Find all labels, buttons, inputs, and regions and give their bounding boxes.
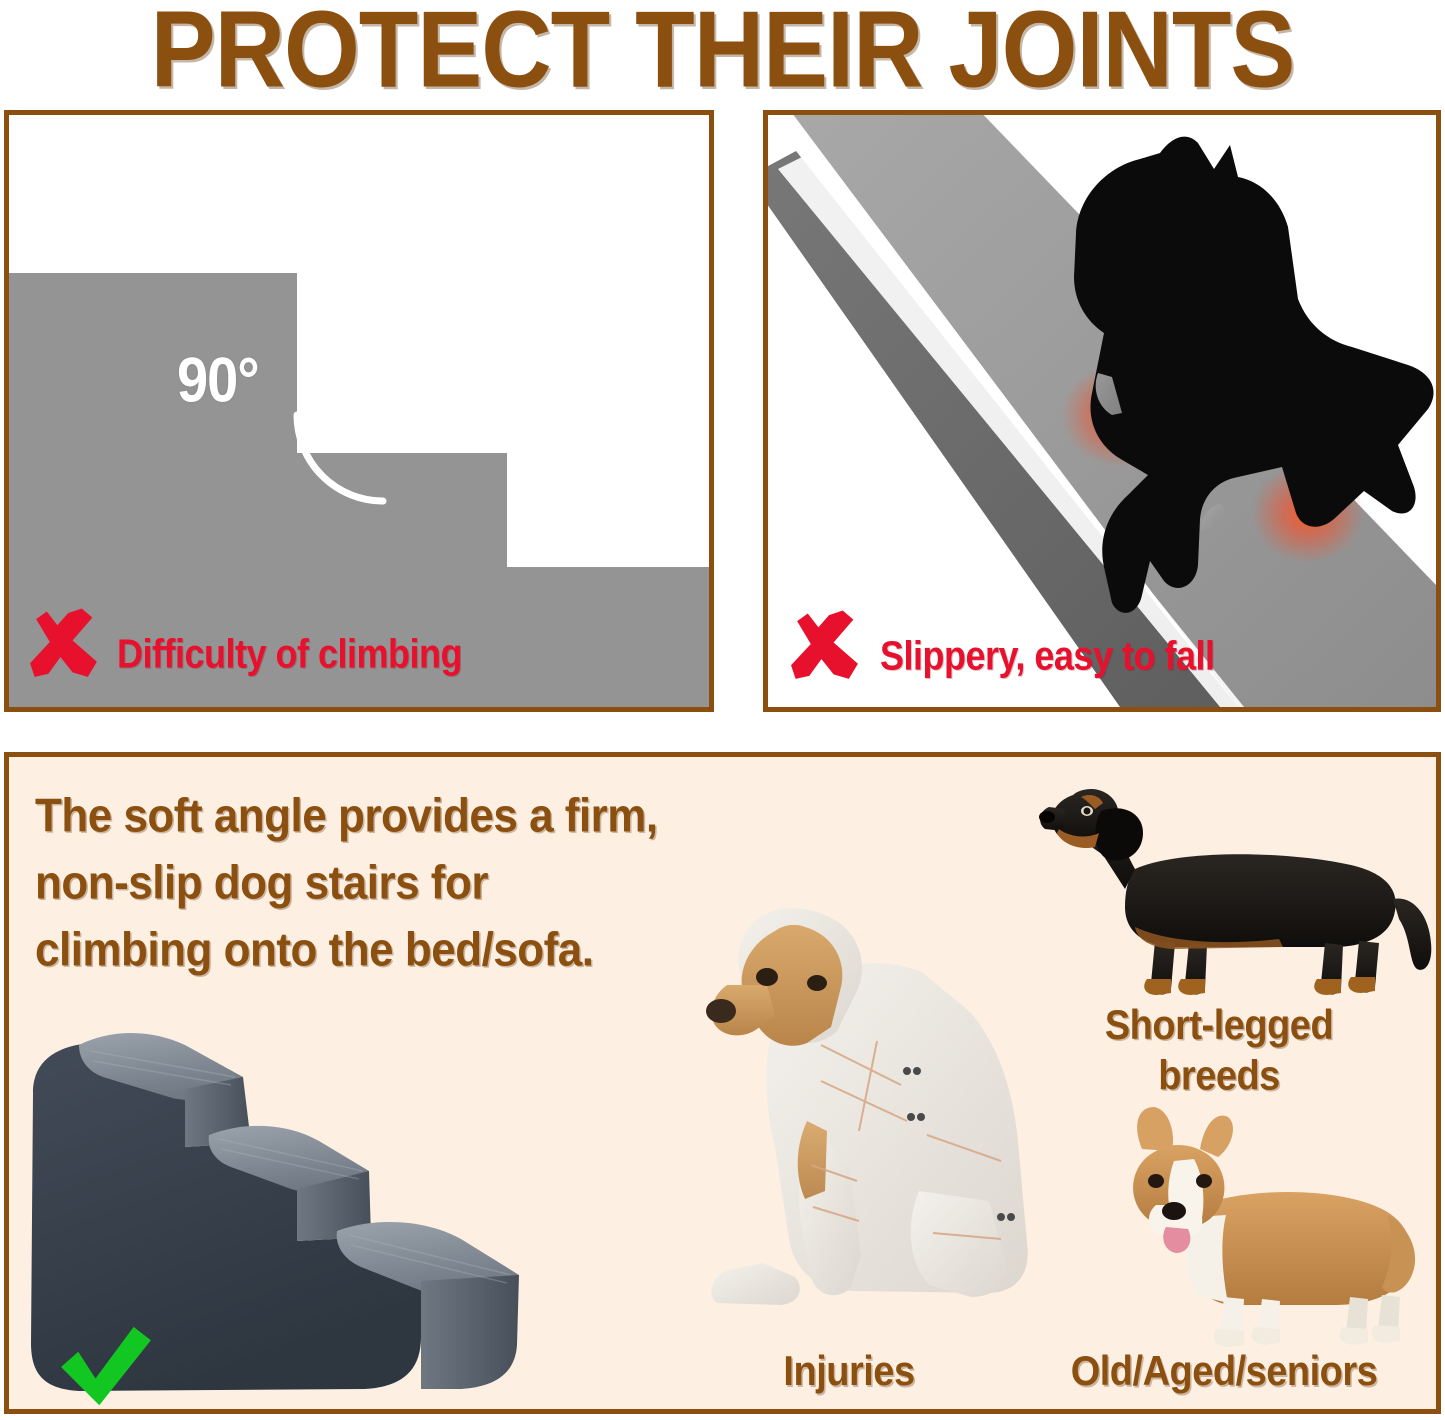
red-x-icon xyxy=(27,607,103,683)
stairs-illustration xyxy=(9,115,709,707)
angle-label: 90° xyxy=(177,343,259,416)
page-title-bar: PROTECT THEIR JOINTS xyxy=(0,0,1445,100)
slippery-ramp-illustration xyxy=(768,115,1436,707)
photo-corgi xyxy=(1104,1105,1434,1350)
panel-solution: The soft angle provides a firm, non-slip… xyxy=(4,752,1441,1414)
panel-difficulty-of-climbing: 90° Difficulty of climbing xyxy=(4,110,714,712)
promo-line-1: The soft angle provides a firm, xyxy=(35,783,735,850)
right-panel-caption: Slippery, easy to fall xyxy=(880,632,1214,679)
page-title: PROTECT THEIR JOINTS xyxy=(151,0,1295,104)
caption-short-legged-breeds: Short-legged breeds xyxy=(1054,1000,1384,1101)
caption-injuries: Injuries xyxy=(709,1347,989,1398)
promo-text: The soft angle provides a firm, non-slip… xyxy=(35,783,735,984)
panel-slippery-easy-to-fall: Slippery, easy to fall xyxy=(763,110,1441,712)
photo-dachshund xyxy=(1039,777,1439,1007)
promo-line-3: climbing onto the bed/sofa. xyxy=(35,917,735,984)
caption-old-aged-seniors: Old/Aged/seniors xyxy=(1009,1347,1439,1398)
infographic-root: PROTECT THEIR JOINTS 90° Difficulty of c… xyxy=(0,0,1445,1420)
photo-injured-dog xyxy=(671,835,1051,1355)
promo-line-2: non-slip dog stairs for xyxy=(35,850,735,917)
product-dog-stairs xyxy=(19,985,589,1405)
left-panel-caption: Difficulty of climbing xyxy=(117,630,462,677)
green-check-icon xyxy=(57,1325,153,1411)
red-x-icon xyxy=(788,609,864,685)
